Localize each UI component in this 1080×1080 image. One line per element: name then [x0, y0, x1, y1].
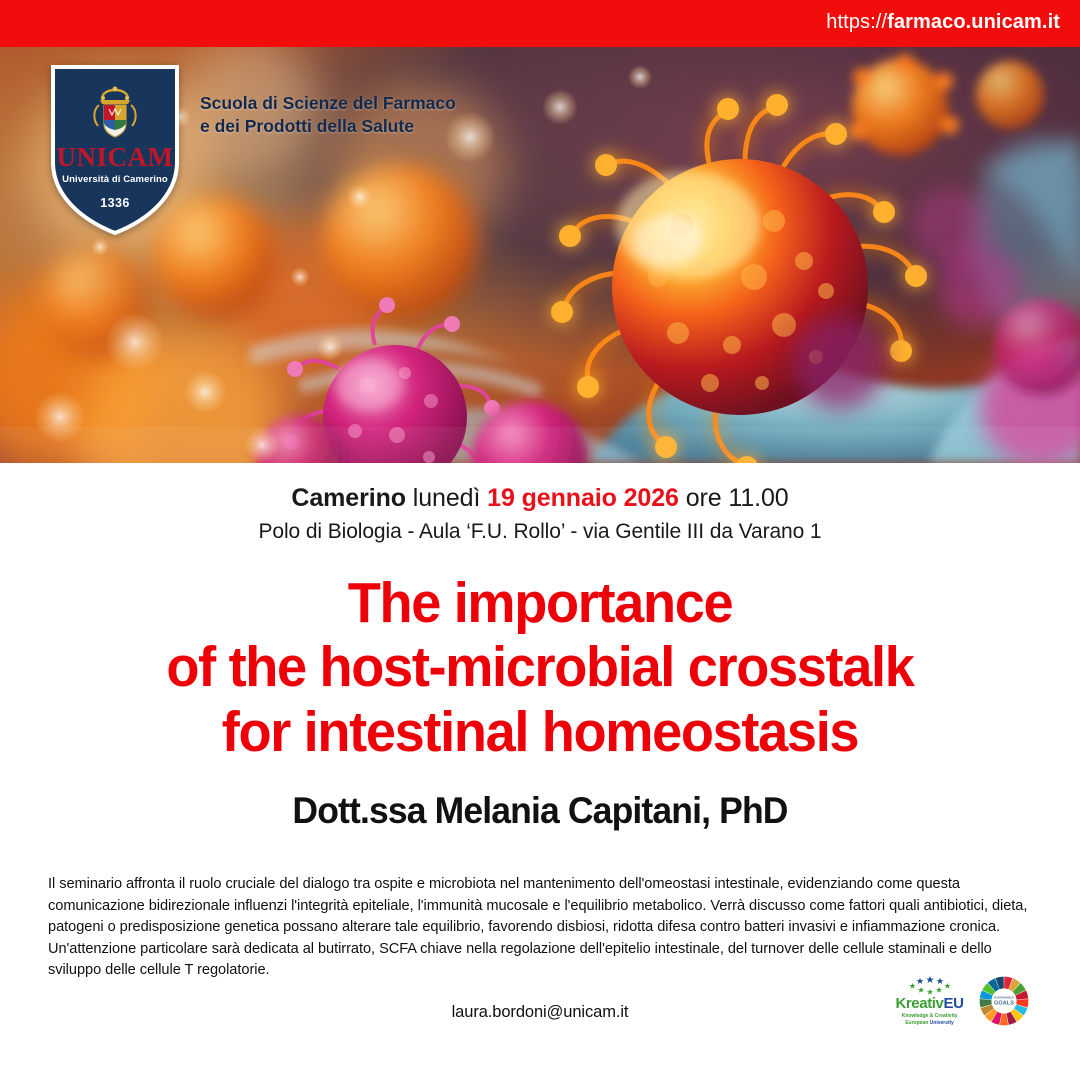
poster-body: Camerino lunedì 19 gennaio 2026 ore 11.0… [0, 463, 1080, 832]
seminar-title: The importance of the host-microbial cro… [27, 571, 1053, 764]
stars-circle-drawing [908, 976, 952, 995]
school-name-line1: Scuola di Scienze del Farmaco [200, 92, 456, 115]
school-name: Scuola di Scienze del Farmaco e dei Prod… [200, 92, 456, 139]
crest-drawing [90, 86, 140, 140]
seminar-title-line3: for intestinal homeostasis [27, 700, 1053, 764]
seminar-title-line2: of the host-microbial crosstalk [27, 635, 1053, 699]
event-datetime-line: Camerino lunedì 19 gennaio 2026 ore 11.0… [0, 483, 1080, 513]
seminar-abstract: Il seminario affronta il ruolo cruciale … [48, 874, 1036, 982]
event-weekday: lunedì [413, 484, 481, 512]
event-city: Camerino [291, 484, 406, 512]
event-date: 19 gennaio 2026 [487, 484, 679, 512]
event-venue: Polo di Biologia - Aula ‘F.U. Rollo’ - v… [0, 520, 1080, 544]
coat-of-arms-icon [50, 86, 180, 145]
unicam-subtitle: Università di Camerino [50, 174, 180, 185]
unicam-wordmark: UNICAM [50, 142, 180, 173]
url-scheme: https:// [826, 11, 887, 33]
sdg-wheel-icon: SUSTAINABLE GOALS [978, 975, 1030, 1027]
abstract-text: Il seminario affronta il ruolo cruciale … [48, 874, 1036, 982]
kreativeu-word-green: Kreativ [895, 995, 943, 1012]
kreativeu-tagline-line2-a: European [905, 1020, 929, 1026]
unicam-shield-icon: UNICAM Università di Camerino 1336 [50, 64, 180, 236]
kreativeu-word-blue: EU [944, 995, 964, 1012]
kreativeu-wordmark: KreativEU [893, 996, 966, 1011]
footer-logo-group: KreativEU Knowledge & Creativity Europea… [893, 975, 1030, 1027]
unicam-logo-block: UNICAM Università di Camerino 1336 Scuol… [50, 64, 456, 236]
url-domain: farmaco.unicam.it [887, 11, 1060, 33]
sdg-wheel-drawing: SUSTAINABLE GOALS [978, 975, 1030, 1027]
seminar-title-line1: The importance [27, 571, 1053, 635]
kreativeu-tagline: Knowledge & Creativity European Universi… [893, 1013, 966, 1026]
kreativeu-tagline-line2-b: University [930, 1020, 954, 1026]
sdg-center-small-label: SUSTAINABLE [994, 996, 1014, 1000]
school-name-line2: e dei Prodotti della Salute [200, 115, 456, 138]
event-time: ore 11.00 [686, 484, 789, 512]
top-red-bar: https://farmaco.unicam.it [0, 0, 1080, 47]
website-url[interactable]: https://farmaco.unicam.it [826, 11, 1060, 34]
kreativeu-tagline-line2: European University [893, 1020, 966, 1027]
kreativeu-logo: KreativEU Knowledge & Creativity Europea… [893, 976, 966, 1026]
speaker-name: Dott.ssa Melania Capitani, PhD [22, 790, 1059, 832]
sdg-center-big-label: GOALS [994, 1000, 1014, 1006]
kreativeu-stars-icon [893, 976, 966, 995]
unicam-founded-year: 1336 [50, 196, 180, 210]
